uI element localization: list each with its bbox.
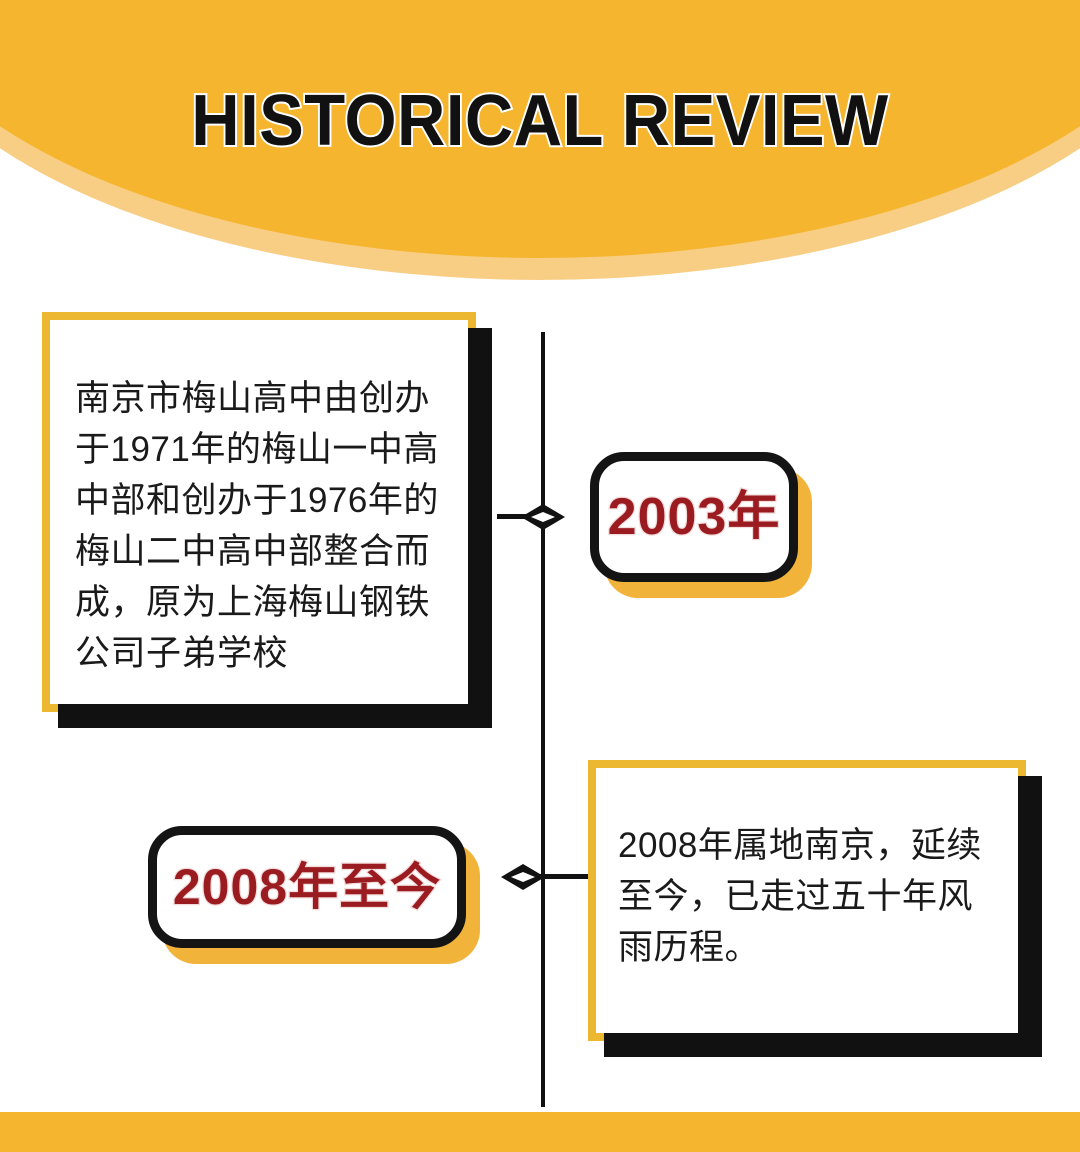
diamond-marker-icon [520,503,566,531]
timeline-entry-2003-text-card: 南京市梅山高中由创办于1971年的梅山一中高中部和创办于1976年的梅山二中高中… [42,312,476,712]
timeline-entry-2008-text-card: 2008年属地南京，延续至今，已走过五十年风雨历程。 [588,760,1026,1041]
timeline-axis [541,332,545,1107]
footer-bar [0,1112,1080,1152]
badge-face: 2003年 [590,452,798,582]
badge-face: 2008年至今 [148,826,466,948]
entry-2003-description: 南京市梅山高中由创办于1971年的梅山一中高中部和创办于1976年的梅山二中高中… [75,373,446,679]
entry-2008-year-label: 2008年至今 [173,859,441,915]
entry-2003-year-label: 2003年 [608,489,781,545]
diamond-marker-icon [500,863,546,891]
infographic-canvas: HISTORICAL REVIEW 南京市梅山高中由创办于1971年的梅山一中高… [0,0,1080,1152]
card-body: 2008年属地南京，延续至今，已走过五十年风雨历程。 [596,768,1018,1033]
entry-2008-description: 2008年属地南京，延续至今，已走过五十年风雨历程。 [618,820,1000,973]
page-title: HISTORICAL REVIEW [38,83,1042,159]
timeline-entry-2008-year-badge[interactable]: 2008年至今 [148,826,466,948]
header-banner: HISTORICAL REVIEW [0,0,1080,300]
card-body: 南京市梅山高中由创办于1971年的梅山一中高中部和创办于1976年的梅山二中高中… [50,320,468,704]
timeline-entry-2003-year-badge[interactable]: 2003年 [590,452,798,582]
